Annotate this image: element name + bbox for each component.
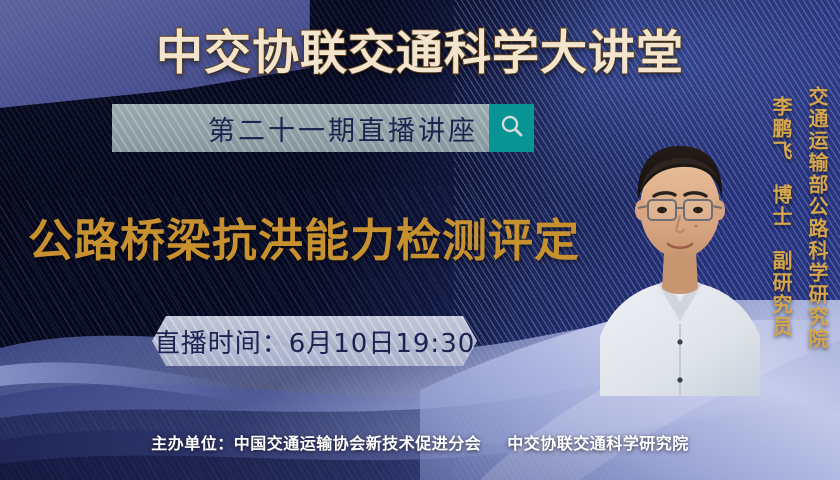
search-button[interactable]	[489, 104, 534, 152]
page-title: 中交协联交通科学大讲堂	[0, 14, 840, 83]
speaker-portrait	[600, 96, 760, 396]
footer-prefix: 主办单位：	[151, 434, 234, 453]
speaker-organization: 交通运输部公路科学研究院	[803, 86, 832, 350]
lecture-headline: 公路桥梁抗洪能力检测评定	[28, 204, 580, 269]
speaker-name-title: 李鹏飞 博士 副研究员	[767, 96, 796, 338]
subtitle-band-label: 第二十一期直播讲座	[112, 104, 494, 152]
search-icon	[499, 113, 525, 144]
footer-organizer-2: 中交协联交通科学研究院	[507, 434, 689, 453]
broadcast-time-text: 直播时间：6月10日19:30	[152, 316, 477, 366]
poster-canvas: 中交协联交通科学大讲堂 第二十一期直播讲座 公路桥梁抗洪能力检测评定 直播时间：…	[0, 0, 840, 480]
footer-organizers: 主办单位：中国交通运输协会新技术促进分会中交协联交通科学研究院	[0, 430, 840, 454]
broadcast-time-badge: 直播时间：6月10日19:30	[152, 316, 477, 366]
footer-organizer-1: 中国交通运输协会新技术促进分会	[234, 434, 482, 453]
subtitle-band: 第二十一期直播讲座	[112, 104, 494, 152]
